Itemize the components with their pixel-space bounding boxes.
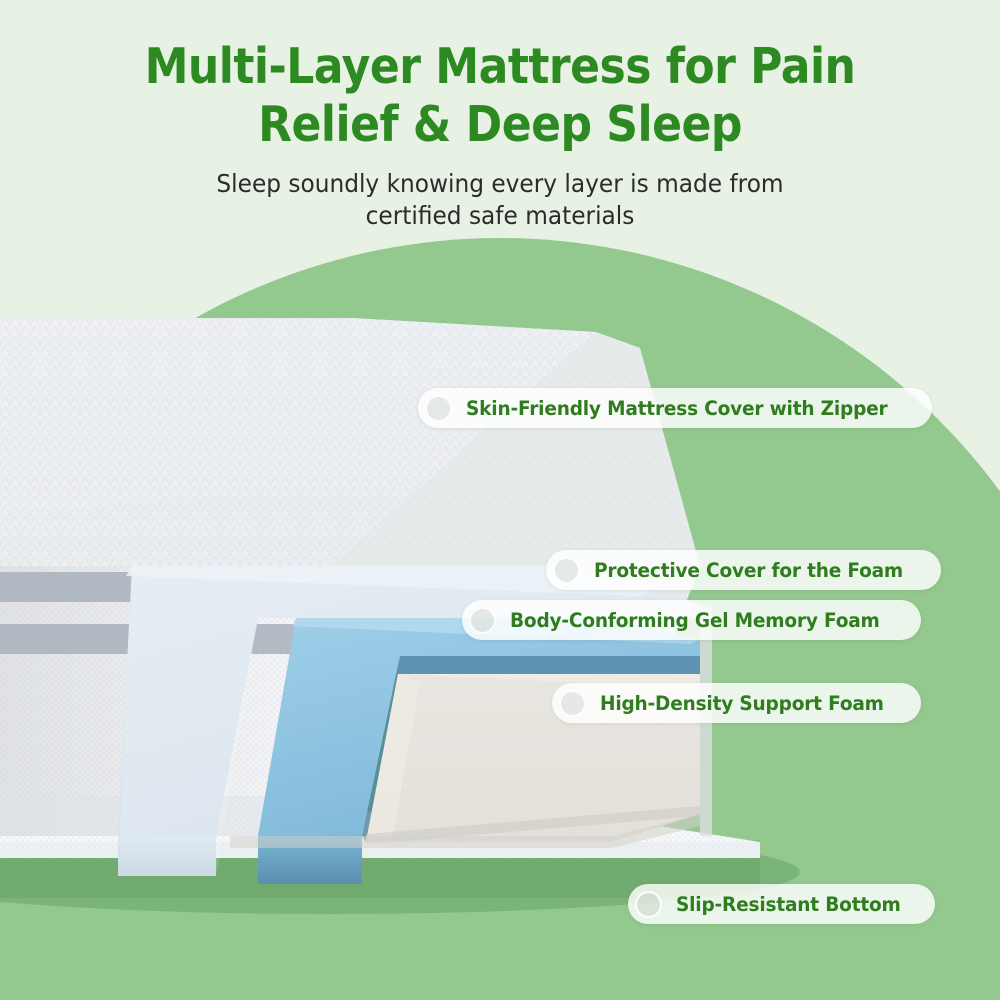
callout-label: Skin-Friendly Mattress Cover with Zipper xyxy=(466,397,887,420)
layer-marker-dot-icon xyxy=(469,607,496,634)
page-subtitle: Sleep soundly knowing every layer is mad… xyxy=(35,154,965,232)
callout-protective-cover-for-the-foam[interactable]: Protective Cover for the Foam xyxy=(546,550,941,590)
callout-skin-friendly-mattress-cover-with-zipper[interactable]: Skin-Friendly Mattress Cover with Zipper xyxy=(418,388,932,428)
header-block: Multi-Layer Mattress for Pain Relief & D… xyxy=(0,0,1000,232)
page-title: Multi-Layer Mattress for Pain Relief & D… xyxy=(50,0,950,154)
callout-high-density-support-foam[interactable]: High-Density Support Foam xyxy=(552,683,921,723)
layer-marker-dot-icon xyxy=(559,690,586,717)
layer-marker-dot-icon xyxy=(553,557,580,584)
callout-label: High-Density Support Foam xyxy=(600,692,884,715)
callout-label: Protective Cover for the Foam xyxy=(594,559,903,582)
callout-label: Body-Conforming Gel Memory Foam xyxy=(510,609,880,632)
callout-slip-resistant-bottom[interactable]: Slip-Resistant Bottom xyxy=(628,884,935,924)
layer-marker-dot-icon xyxy=(425,395,452,422)
layer-marker-dot-icon xyxy=(635,891,662,918)
callout-body-conforming-gel-memory-foam[interactable]: Body-Conforming Gel Memory Foam xyxy=(462,600,921,640)
infographic-canvas: Multi-Layer Mattress for Pain Relief & D… xyxy=(0,0,1000,1000)
callout-label: Slip-Resistant Bottom xyxy=(676,893,901,916)
